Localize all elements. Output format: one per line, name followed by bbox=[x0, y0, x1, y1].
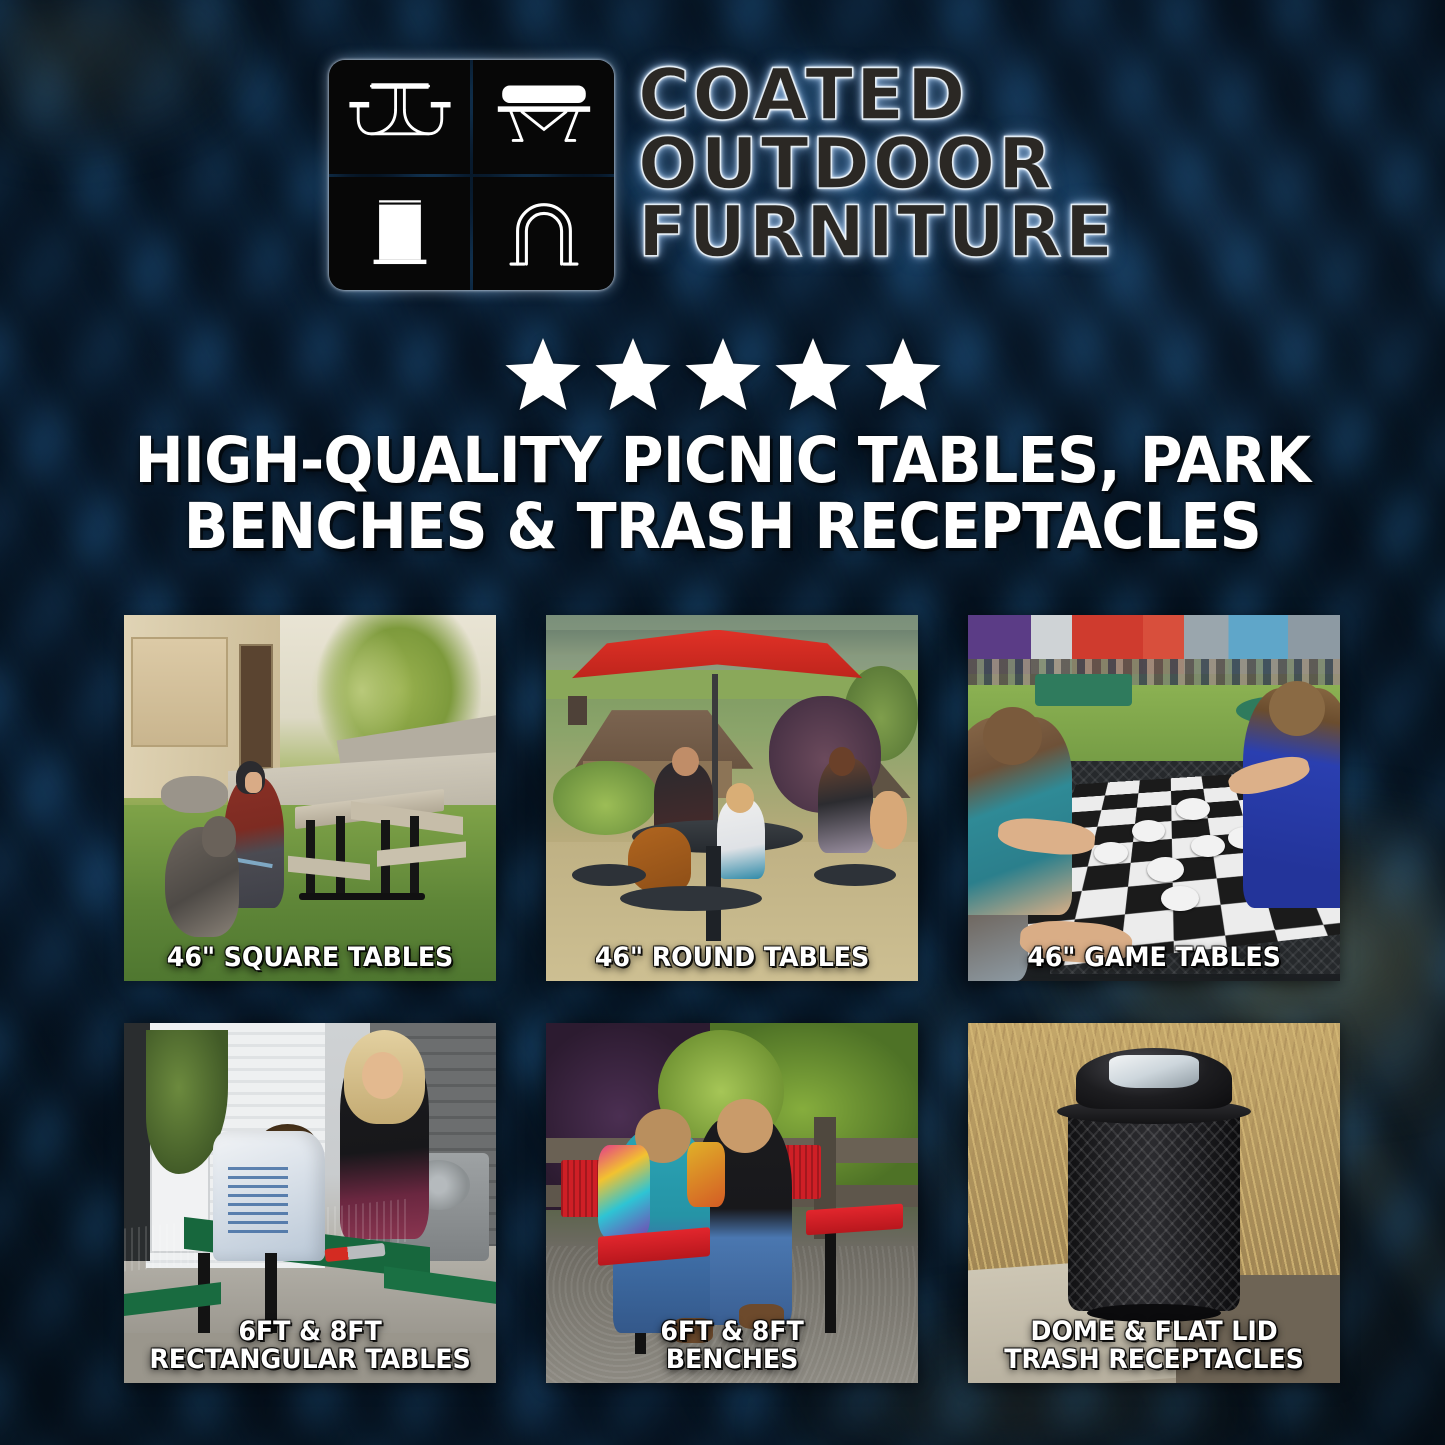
product-caption: 46" SQUARE TABLES bbox=[141, 944, 479, 973]
product-caption: DOME & FLAT LID TRASH RECEPTACLES bbox=[985, 1318, 1323, 1375]
product-tile-game-tables[interactable]: 46" GAME TABLES bbox=[968, 615, 1340, 981]
picnic-table-icon bbox=[329, 60, 470, 174]
product-caption-line-1: 6FT & 8FT bbox=[660, 1316, 803, 1347]
brand-wordmark: COATED OUTDOOR FURNITURE bbox=[638, 60, 1116, 266]
star-icon bbox=[775, 338, 851, 410]
product-photo bbox=[968, 615, 1340, 981]
product-tile-rectangular-tables[interactable]: 6FT & 8FT RECTANGULAR TABLES bbox=[124, 1023, 496, 1383]
product-caption-line-1: DOME & FLAT LID bbox=[1030, 1316, 1277, 1347]
page-title: HIGH-QUALITY PICNIC TABLES, PARK BENCHES… bbox=[106, 428, 1338, 559]
star-icon bbox=[685, 338, 761, 410]
product-category-grid: 46" SQUARE TABLES bbox=[124, 615, 1321, 1383]
product-tile-round-tables[interactable]: 46" ROUND TABLES bbox=[546, 615, 918, 981]
product-caption-line-2: BENCHES bbox=[563, 1346, 901, 1375]
trash-receptacle-icon bbox=[329, 177, 470, 291]
star-icon bbox=[595, 338, 671, 410]
product-caption-line-1: 46" SQUARE TABLES bbox=[167, 942, 453, 973]
product-caption-line-1: 6FT & 8FT bbox=[238, 1316, 381, 1347]
star-icon bbox=[865, 338, 941, 410]
product-caption: 6FT & 8FT RECTANGULAR TABLES bbox=[141, 1318, 479, 1375]
product-tile-square-tables[interactable]: 46" SQUARE TABLES bbox=[124, 615, 496, 981]
product-caption-line-1: 46" GAME TABLES bbox=[1027, 942, 1281, 973]
headline-line-1: HIGH-QUALITY PICNIC TABLES, PARK bbox=[106, 428, 1338, 494]
logo-mark-grid bbox=[329, 60, 614, 290]
product-photo bbox=[546, 615, 918, 981]
product-photo bbox=[124, 615, 496, 981]
star-icon bbox=[505, 338, 581, 410]
headline-line-2: BENCHES & TRASH RECEPTACLES bbox=[106, 494, 1338, 560]
product-tile-benches[interactable]: 6FT & 8FT BENCHES bbox=[546, 1023, 918, 1383]
bike-rack-icon bbox=[473, 177, 614, 291]
promotional-poster: COATED OUTDOOR FURNITURE HIGH-QUALITY PI… bbox=[0, 0, 1445, 1445]
product-caption: 46" ROUND TABLES bbox=[563, 944, 901, 973]
product-tile-trash-receptacles[interactable]: DOME & FLAT LID TRASH RECEPTACLES bbox=[968, 1023, 1340, 1383]
product-caption-line-2: TRASH RECEPTACLES bbox=[985, 1346, 1323, 1375]
product-caption: 6FT & 8FT BENCHES bbox=[563, 1318, 901, 1375]
brand-word-outdoor: OUTDOOR bbox=[638, 131, 1116, 198]
brand-word-furniture: FURNITURE bbox=[638, 199, 1116, 266]
product-caption-line-2: RECTANGULAR TABLES bbox=[141, 1346, 479, 1375]
brand-logo: COATED OUTDOOR FURNITURE bbox=[0, 60, 1445, 290]
bench-icon bbox=[473, 60, 614, 174]
product-caption: 46" GAME TABLES bbox=[985, 944, 1323, 973]
product-caption-line-1: 46" ROUND TABLES bbox=[595, 942, 869, 973]
brand-word-coated: COATED bbox=[638, 62, 1116, 129]
star-rating bbox=[0, 338, 1445, 410]
